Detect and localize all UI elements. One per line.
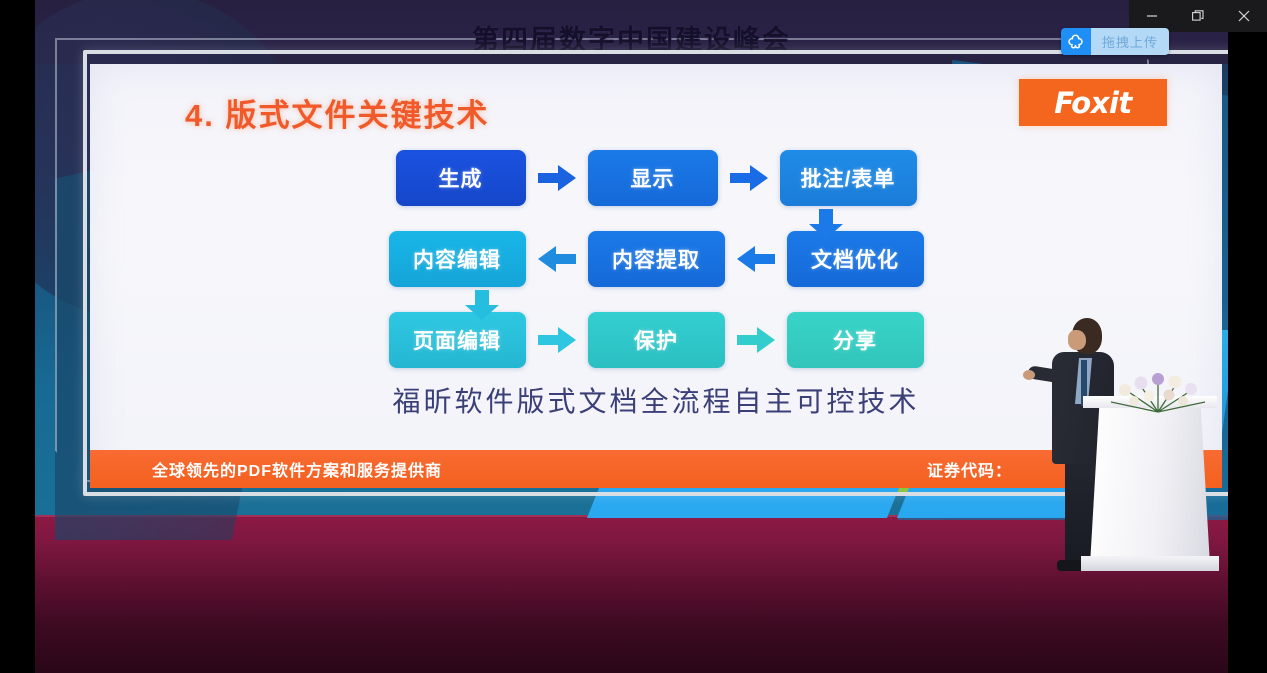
podium — [1090, 400, 1210, 565]
flow-diagram: 生成 显示 批注/表单 — [90, 150, 1222, 393]
letterbox-right — [1228, 0, 1267, 673]
podium-base — [1081, 556, 1219, 571]
flow-node-annotation-form: 批注/表单 — [780, 150, 917, 206]
drag-upload-button[interactable]: 拖拽上传 — [1061, 28, 1169, 55]
flow-row-1: 生成 显示 批注/表单 — [90, 150, 1222, 206]
presenter-hand — [1023, 370, 1035, 380]
foxit-logo: Foxit — [1019, 79, 1167, 126]
flow-node-page-edit: 页面编辑 — [389, 312, 526, 368]
flow-node-display: 显示 — [588, 150, 718, 206]
cloud-icon — [1061, 28, 1091, 55]
flow-node-protect: 保护 — [588, 312, 725, 368]
footer-stock-code: 证券代码： — [927, 457, 1012, 481]
arrow-left-content-extract-to-content-edit — [526, 246, 588, 272]
drag-upload-label: 拖拽上传 — [1091, 28, 1169, 55]
arrow-right-display-to-annotation — [718, 165, 780, 191]
flow-node-document-optimize: 文档优化 — [787, 231, 924, 287]
down-arrow-content-edit-to-page-edit — [465, 290, 499, 320]
down-arrow-annotation-to-optimize — [809, 209, 843, 239]
arrow-right-protect-to-share — [725, 327, 787, 353]
foxit-logo-text: Foxit — [1054, 86, 1132, 120]
arrow-left-optimize-to-content-extract — [725, 246, 787, 272]
flow-node-share: 分享 — [787, 312, 924, 368]
flow-row-2: 内容编辑 内容提取 文档优化 — [90, 231, 1222, 287]
presenter-face — [1068, 330, 1086, 350]
footer-slogan: 全球领先的PDF软件方案和服务提供商 — [152, 457, 442, 481]
letterbox-left — [0, 0, 35, 673]
flow-node-content-edit: 内容编辑 — [389, 231, 526, 287]
screen-capture: 1 0 1 1 0 1 1 1 1 1 1 0 0 0 0 1 0 1 1 1 … — [0, 0, 1267, 673]
video-frame: 1 0 1 1 0 1 1 1 1 1 1 0 0 0 0 1 0 1 1 1 … — [35, 0, 1228, 673]
arrow-right-generate-to-display — [526, 165, 588, 191]
flow-node-generate: 生成 — [396, 150, 526, 206]
slide-title: 4. 版式文件关键技术 — [185, 90, 489, 135]
close-icon[interactable] — [1221, 0, 1267, 32]
restore-icon[interactable] — [1175, 0, 1221, 32]
flow-node-content-extract: 内容提取 — [588, 231, 725, 287]
podium-flower-arrangement — [1103, 368, 1213, 414]
arrow-right-page-edit-to-protect — [526, 327, 588, 353]
